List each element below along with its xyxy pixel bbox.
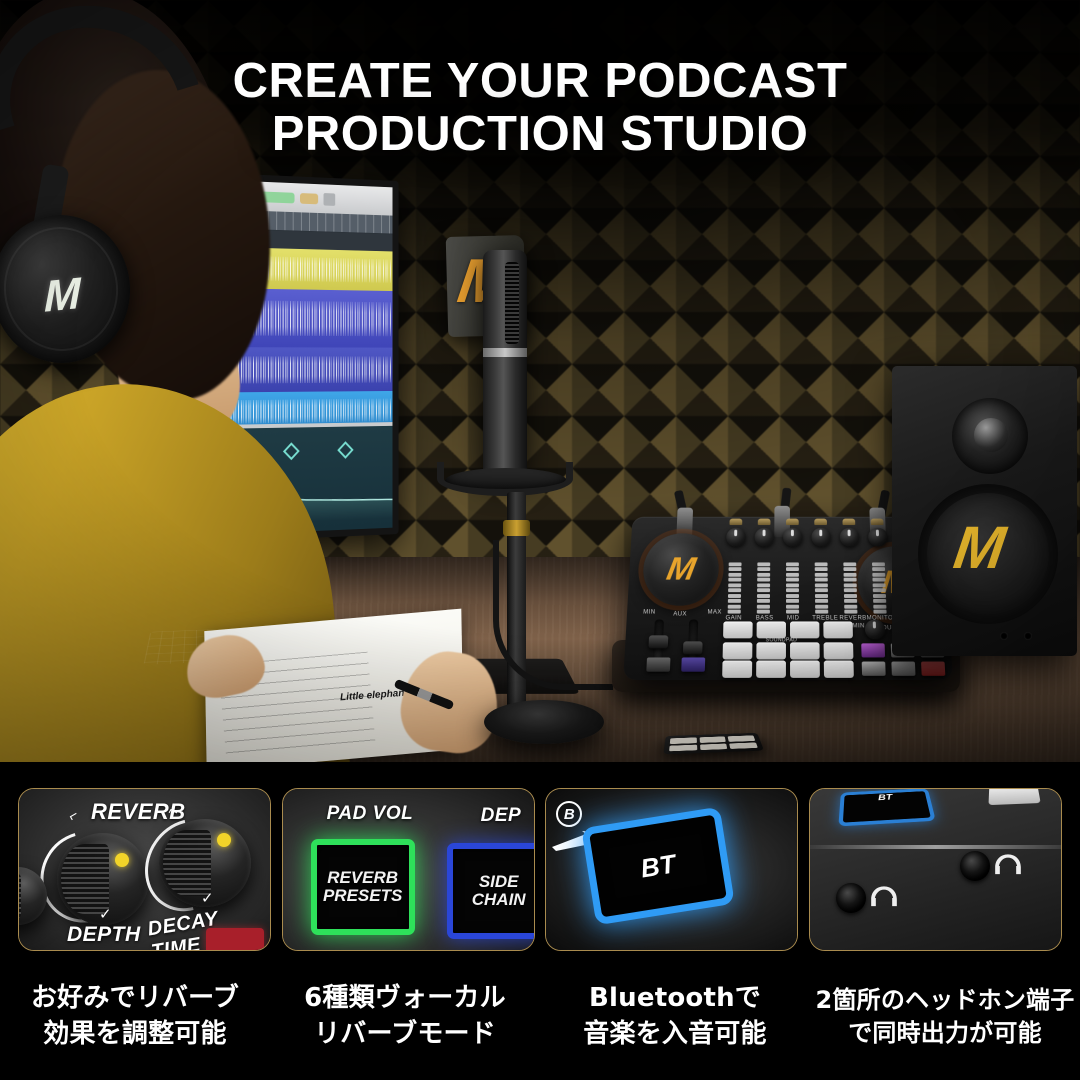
microphone-cable	[493, 540, 613, 690]
pad-vol-knob[interactable]	[865, 619, 886, 639]
remote-key	[699, 736, 726, 742]
reverb-level-meter	[843, 556, 857, 614]
knob-max-label: MAX	[707, 610, 721, 616]
side-chain-button[interactable]: SIDE CHAIN	[447, 843, 535, 939]
knob-min-label: MIN	[643, 610, 656, 616]
soundpad-button[interactable]	[723, 642, 753, 659]
decay-indicator-led	[217, 833, 231, 847]
caption-dual-headphone: 2箇所のヘッドホン端子 で同時出力が可能	[810, 962, 1080, 1072]
soundpad-button[interactable]	[756, 661, 786, 678]
knob-cap	[871, 519, 884, 525]
caption-vocal-modes: 6種類ヴォーカル リバーブモード	[270, 962, 540, 1072]
headphone-jack-1	[836, 883, 866, 913]
treble-knob[interactable]	[811, 528, 831, 547]
maono-logo-icon: M	[663, 551, 698, 588]
daw-tool-icon	[324, 193, 336, 206]
bass-knob[interactable]	[755, 528, 775, 547]
maono-logo-icon: M	[949, 516, 1029, 588]
knob-cap	[814, 519, 827, 525]
maono-logo-icon: M	[44, 269, 96, 323]
feature-panel-reverb-presets: PAD VOL DEP REVERB PRESETS SIDE CHAIN	[282, 788, 535, 951]
soundpad-button[interactable]	[790, 661, 820, 678]
monitor-level-meter	[872, 556, 887, 614]
daw-transport-position	[300, 193, 318, 204]
soundpad-button[interactable]	[790, 642, 820, 659]
feature-panel-headphone-jacks: BT	[809, 788, 1062, 951]
reverb-presets-button[interactable]	[861, 643, 885, 657]
gain-level-meter	[728, 556, 742, 614]
speaker-tweeter	[952, 398, 1028, 474]
depth-check-icon: ✓	[99, 905, 112, 923]
caption-line-1: Bluetoothで	[540, 981, 810, 1017]
button-line-1: REVERB	[327, 869, 398, 887]
eq-band-node	[337, 441, 353, 459]
page-title: CREATE YOUR PODCAST PRODUCTION STUDIO	[0, 55, 1080, 161]
headphone-jack	[1024, 632, 1032, 640]
headline-line-2: PRODUCTION STUDIO	[0, 108, 1080, 161]
feature-panel-reverb-knobs: REVERB ⌐ ⌐ ✓ DEPTH ✓ DECAY TIME	[18, 788, 271, 951]
microphone-stand-collar	[503, 520, 530, 536]
caption-line-2: リバーブモード	[270, 1017, 540, 1053]
feature-captions: お好みでリバーブ 効果を調整可能 6種類ヴォーカル リバーブモード Blueto…	[0, 962, 1080, 1072]
caption-line-2: 効果を調整可能	[0, 1017, 270, 1053]
bt-button[interactable]: BT	[838, 788, 935, 826]
knob-cap	[842, 519, 855, 525]
microphone-base	[484, 700, 604, 744]
function-button[interactable]	[891, 662, 915, 676]
knob-cap	[786, 519, 799, 525]
depth-label: DEP	[481, 805, 522, 827]
caption-bluetooth: Bluetoothで 音楽を入音可能	[540, 962, 810, 1072]
studio-monitor-speaker: M	[892, 366, 1077, 656]
function-button[interactable]	[862, 662, 886, 676]
soundpad-button[interactable]	[757, 621, 786, 638]
reverb-presets-button[interactable]: REVERB PRESETS	[311, 839, 415, 935]
caption-line-1: お好みでリバーブ	[0, 981, 270, 1017]
caption-line-2: 音楽を入音可能	[540, 1017, 810, 1053]
mid-level-meter	[786, 556, 799, 614]
white-pad-button[interactable]	[988, 788, 1040, 805]
eq-band-node	[283, 442, 300, 460]
adjacent-red-button[interactable]	[206, 928, 264, 951]
bt-button[interactable]	[646, 657, 670, 671]
mute-button[interactable]	[681, 657, 705, 671]
button-line-2: CHAIN	[472, 891, 526, 909]
aux-jack	[1000, 632, 1008, 640]
depth-label: DEPTH	[67, 923, 141, 947]
feature-strip: REVERB ⌐ ⌐ ✓ DEPTH ✓ DECAY TIME PAD VOL …	[0, 762, 1080, 1080]
hero-photo: M Little elephant M M MIN AUX MAX M M	[0, 0, 1080, 762]
headphone-icon	[870, 885, 898, 911]
caption-reverb-adjust: お好みでリバーブ 効果を調整可能	[0, 962, 270, 1072]
mid-knob[interactable]	[783, 528, 803, 547]
knob-cap	[758, 519, 771, 525]
reverb-knob[interactable]	[840, 528, 860, 547]
headphone-jack-2	[960, 851, 990, 881]
microphone-grille	[505, 262, 519, 344]
caption-line-1: 6種類ヴォーカル	[270, 981, 540, 1017]
monitor-knob[interactable]	[868, 528, 888, 547]
knob-aux-label: AUX	[673, 612, 687, 618]
button-line-2: PRESETS	[323, 887, 402, 905]
remote-key	[728, 735, 755, 741]
soundpad-button[interactable]	[722, 661, 752, 678]
fader-handle[interactable]	[683, 641, 703, 654]
bt-button-label: BT	[878, 793, 893, 803]
fader-handle[interactable]	[648, 635, 668, 648]
pad-vol-label: PAD VOL	[327, 803, 414, 825]
caption-line-1: 2箇所のヘッドホン端子	[810, 984, 1080, 1017]
soundpad-button[interactable]	[823, 621, 853, 638]
soundpad-button[interactable]	[824, 642, 854, 659]
remote-key	[670, 737, 697, 743]
soundpad-button[interactable]	[824, 661, 854, 678]
record-button[interactable]	[921, 662, 945, 676]
feature-panel-bluetooth: B BT	[545, 788, 798, 951]
headline-line-1: CREATE YOUR PODCAST	[0, 55, 1080, 108]
decay-check-icon: ✓	[201, 889, 214, 907]
treble-level-meter	[815, 556, 829, 614]
gain-knob[interactable]	[726, 528, 746, 547]
depth-indicator-led	[115, 853, 129, 867]
soundpad-button[interactable]	[790, 621, 819, 638]
caption-line-2: で同時出力が可能	[810, 1017, 1080, 1050]
knob-min-label: MIN	[852, 623, 864, 629]
feature-panels: REVERB ⌐ ⌐ ✓ DEPTH ✓ DECAY TIME PAD VOL …	[0, 788, 1080, 956]
soundpad-button[interactable]	[756, 642, 786, 659]
aux-volume-knob[interactable]: M	[641, 533, 719, 605]
knob-cap	[730, 519, 743, 525]
microphone-yoke	[437, 462, 573, 496]
remote-key	[729, 742, 757, 749]
remote-key	[669, 744, 697, 751]
bass-level-meter	[757, 556, 770, 614]
headphone-icon	[994, 853, 1022, 879]
soundpad-button[interactable]	[723, 621, 753, 638]
button-line-1: SIDE	[479, 873, 519, 891]
bt-button-label: BT	[639, 848, 678, 884]
microphone-ring	[483, 348, 527, 357]
remote-key	[700, 743, 728, 750]
soundpad-label: SOUNDPAD	[766, 637, 798, 643]
device-edge-highlight	[810, 845, 1061, 849]
